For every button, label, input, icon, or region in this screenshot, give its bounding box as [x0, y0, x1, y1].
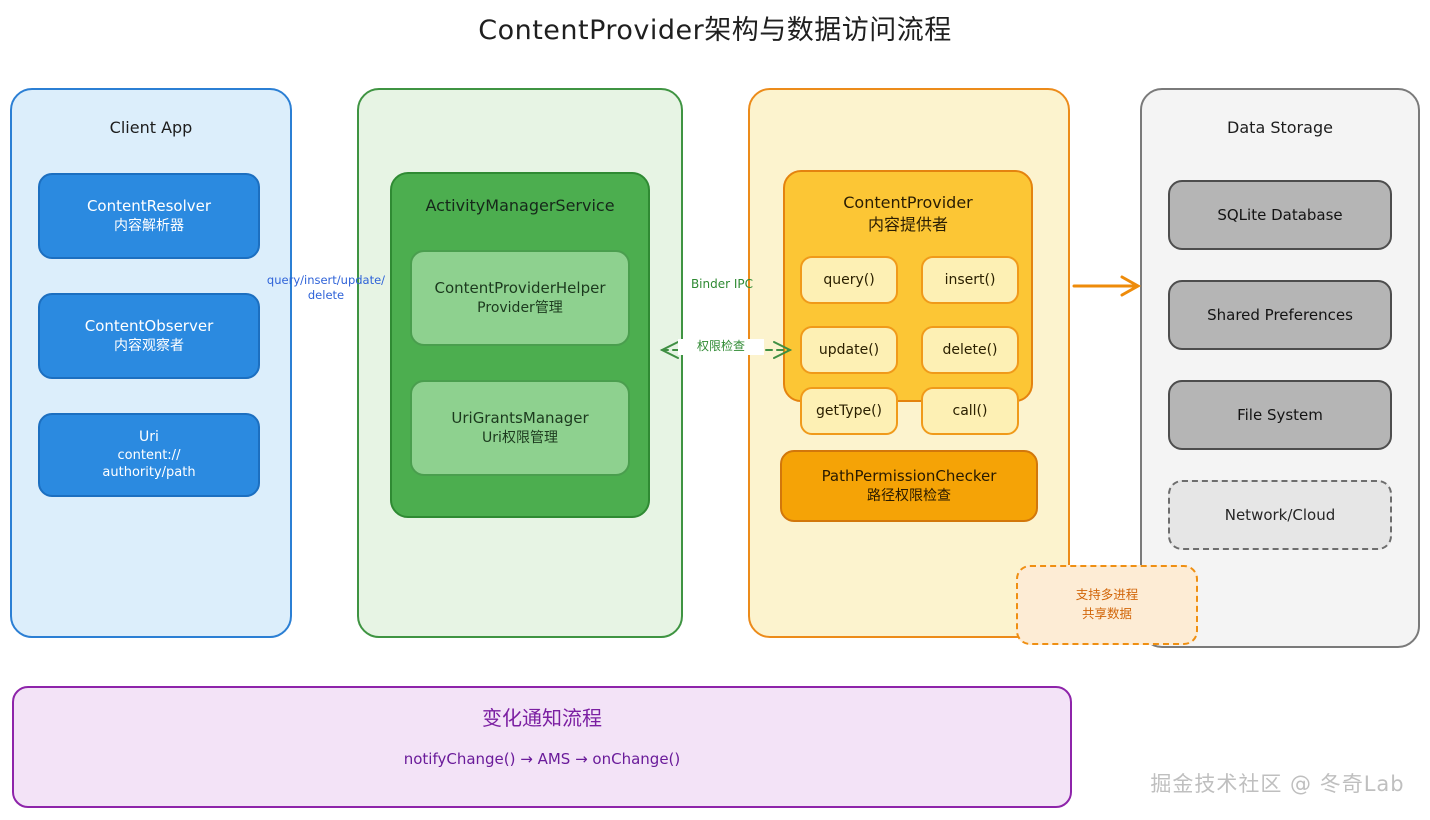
card-subtitle: content://	[118, 447, 181, 465]
connector-label-permission-check: 权限检查	[678, 339, 764, 355]
card-content-observer[interactable]: ContentObserver 内容观察者	[38, 293, 260, 379]
note-line2: 共享数据	[1076, 605, 1139, 624]
note-line1: 支持多进程	[1076, 586, 1139, 605]
arrow-provider-to-storage	[1072, 272, 1146, 300]
card-detail: authority/path	[102, 464, 195, 482]
diagram-canvas: ContentProvider架构与数据访问流程 Client App Cont…	[0, 0, 1430, 820]
card-shared-preferences[interactable]: Shared Preferences	[1168, 280, 1392, 350]
card-uri[interactable]: Uri content:// authority/path	[38, 413, 260, 497]
method-label: query()	[823, 271, 874, 290]
method-label: insert()	[945, 271, 996, 290]
card-title: PathPermissionChecker	[822, 466, 997, 486]
card-file-system[interactable]: File System	[1168, 380, 1392, 450]
card-title: Uri	[139, 428, 159, 447]
box-title-line2: 内容提供者	[785, 214, 1031, 236]
method-label: getType()	[816, 402, 882, 421]
card-label: Network/Cloud	[1225, 505, 1336, 525]
card-content-provider-helper[interactable]: ContentProviderHelper Provider管理	[410, 250, 630, 346]
column-title-data-storage: Data Storage	[1142, 118, 1418, 137]
card-path-permission-checker[interactable]: PathPermissionChecker 路径权限检查	[780, 450, 1038, 522]
box-title: ContentProvider 内容提供者	[785, 192, 1031, 237]
card-sqlite-database[interactable]: SQLite Database	[1168, 180, 1392, 250]
card-subtitle: Uri权限管理	[482, 429, 558, 448]
connector-label-line2: delete	[254, 288, 398, 303]
method-label: call()	[953, 402, 988, 421]
card-content-resolver[interactable]: ContentResolver 内容解析器	[38, 173, 260, 259]
method-query[interactable]: query()	[800, 256, 898, 304]
page-title: ContentProvider架构与数据访问流程	[0, 8, 1430, 47]
note-multiprocess: 支持多进程 共享数据	[1016, 565, 1198, 645]
method-update[interactable]: update()	[800, 326, 898, 374]
card-subtitle: 路径权限检查	[867, 487, 951, 506]
method-label: delete()	[942, 341, 997, 360]
panel-flow-text: notifyChange() → AMS → onChange()	[14, 750, 1070, 768]
card-network-cloud[interactable]: Network/Cloud	[1168, 480, 1392, 550]
card-uri-grants-manager[interactable]: UriGrantsManager Uri权限管理	[410, 380, 630, 476]
card-subtitle: Provider管理	[477, 299, 563, 318]
method-label: update()	[819, 341, 879, 360]
column-title-client-app: Client App	[12, 118, 290, 137]
box-title: ActivityManagerService	[392, 196, 648, 215]
panel-change-notification: 变化通知流程 notifyChange() → AMS → onChange()	[12, 686, 1072, 808]
card-subtitle: 内容观察者	[114, 337, 184, 356]
connector-label-client-to-ams: query/insert/update/ delete	[254, 273, 398, 303]
card-label: File System	[1237, 405, 1323, 425]
method-insert[interactable]: insert()	[921, 256, 1019, 304]
method-gettype[interactable]: getType()	[800, 387, 898, 435]
connector-label-line1: query/insert/update/	[254, 273, 398, 288]
method-delete[interactable]: delete()	[921, 326, 1019, 374]
connector-label-binder-ipc: Binder IPC	[676, 277, 768, 293]
card-subtitle: 内容解析器	[114, 217, 184, 236]
column-data-storage: Data Storage	[1140, 88, 1420, 648]
panel-title: 变化通知流程	[14, 702, 1070, 731]
card-title: ContentObserver	[85, 316, 213, 336]
card-title: UriGrantsManager	[451, 408, 588, 428]
box-title-line1: ContentProvider	[785, 192, 1031, 214]
card-title: ContentProviderHelper	[434, 278, 605, 298]
card-label: SQLite Database	[1217, 205, 1342, 225]
card-title: ContentResolver	[87, 196, 211, 216]
card-label: Shared Preferences	[1207, 305, 1353, 325]
method-call[interactable]: call()	[921, 387, 1019, 435]
watermark: 掘金技术社区 @ 冬奇Lab	[1130, 768, 1425, 798]
